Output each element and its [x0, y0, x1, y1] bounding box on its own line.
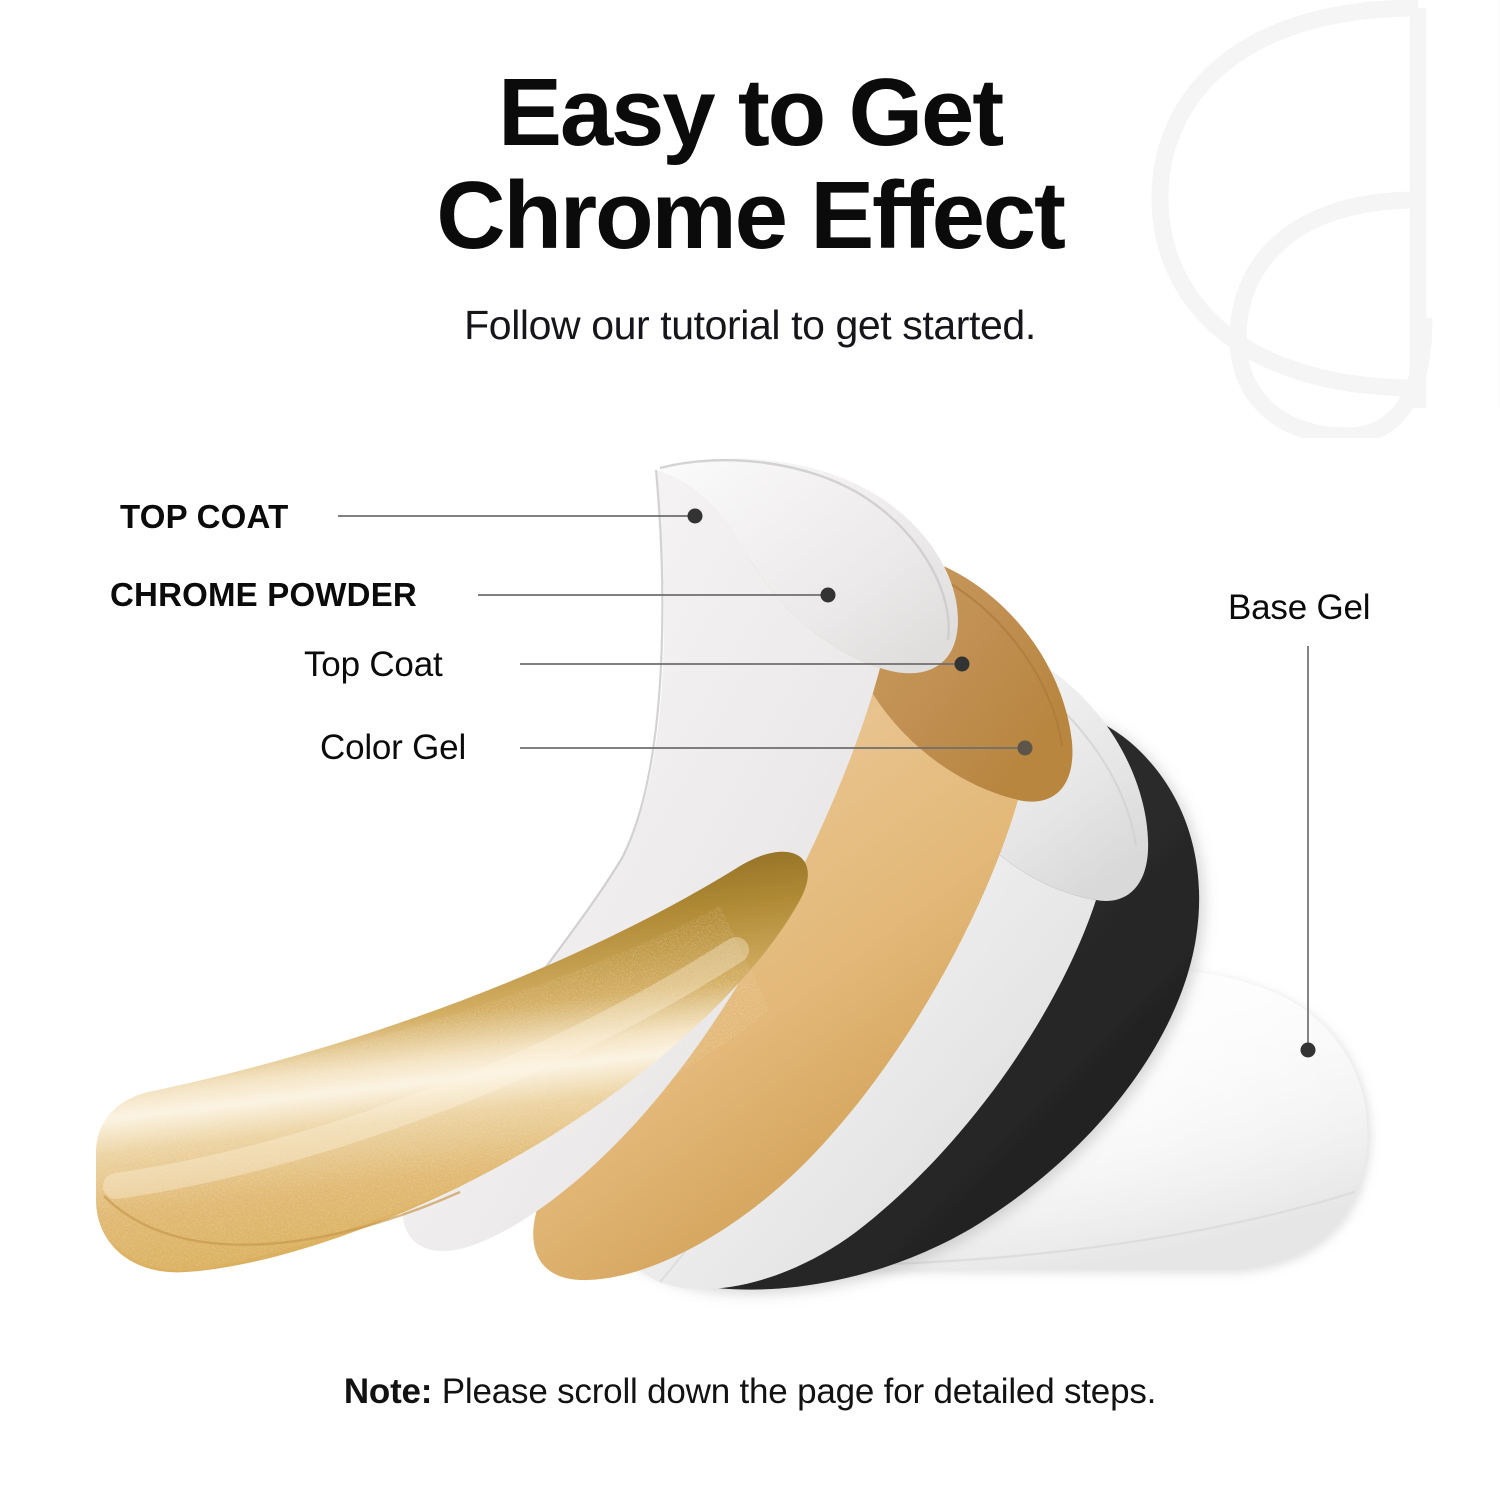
label-top-coat-upper: TOP COAT [120, 500, 288, 533]
label-base-gel: Base Gel [1228, 590, 1370, 625]
dot-top-coat-lower [955, 657, 970, 672]
dot-chrome-powder [821, 588, 836, 603]
nail-layers-diagram [0, 0, 1500, 1500]
footer-note-text: Please scroll down the page for detailed… [432, 1372, 1156, 1411]
dot-top-coat-upper [688, 509, 703, 524]
dot-color-gel [1018, 741, 1033, 756]
label-chrome-powder: CHROME POWDER [110, 578, 417, 611]
footer-note: Note: Please scroll down the page for de… [0, 1372, 1500, 1412]
label-top-coat-lower: Top Coat [304, 647, 443, 682]
footer-note-label: Note: [344, 1372, 432, 1411]
infographic-page: Easy to GetChrome Effect Follow our tuto… [0, 0, 1500, 1500]
label-color-gel: Color Gel [320, 730, 466, 765]
dot-base-gel [1301, 1043, 1316, 1058]
